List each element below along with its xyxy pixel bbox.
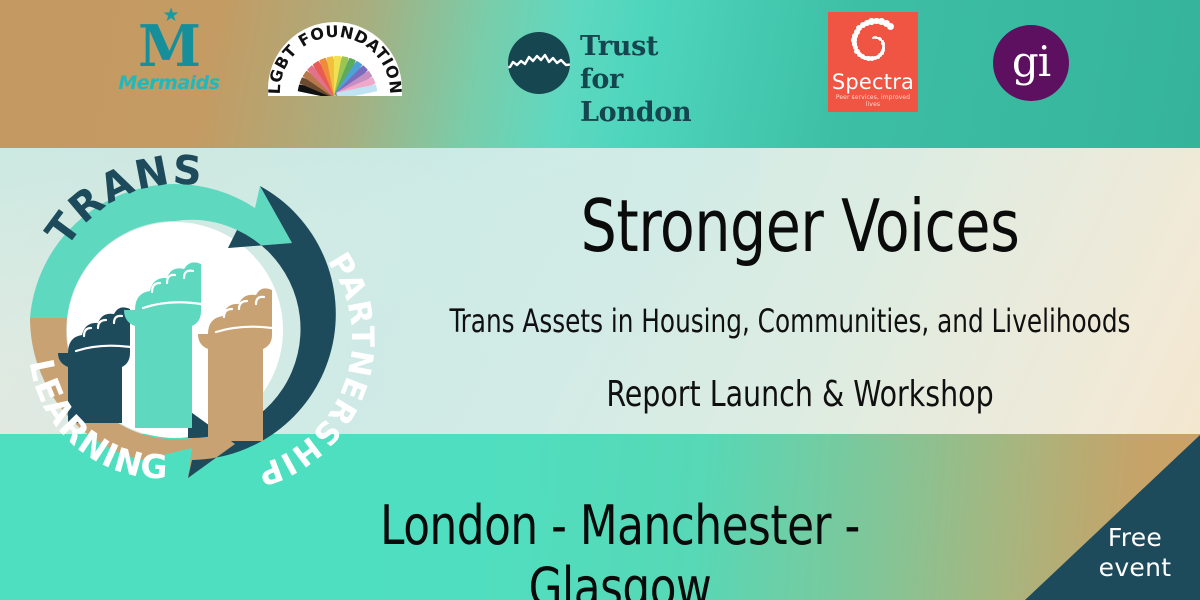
logo-trust-for-london: Trust for London	[508, 28, 724, 98]
spectra-spiral-dot	[887, 23, 894, 30]
logo-mermaids: ★ M Mermaids	[118, 6, 220, 104]
event-cities: London - Manchester - Glasgow	[292, 495, 949, 600]
trust-wordmark-line1: Trust	[580, 30, 724, 63]
event-banner: ★ M Mermaids LGBT FOUNDATION	[0, 0, 1200, 600]
free-event-line1: Free	[1080, 523, 1190, 553]
event-subtitle: Trans Assets in Housing, Communities, an…	[446, 302, 1134, 340]
page-title: Stronger Voices	[466, 185, 1135, 267]
sponsor-logo-row: ★ M Mermaids LGBT FOUNDATION	[0, 0, 1200, 148]
trust-wordmark: Trust for London	[580, 30, 724, 129]
logo-lgbt-foundation: LGBT FOUNDATION	[268, 22, 402, 96]
trust-wordmark-line2: for London	[580, 63, 724, 129]
spectra-wordmark: Spectra	[828, 70, 918, 94]
svg-text:LGBT FOUNDATION: LGBT FOUNDATION	[268, 22, 402, 95]
spectra-tagline: Peer services, improved lives	[828, 94, 918, 108]
free-event-line2: event	[1080, 553, 1190, 583]
free-event-badge: Free event	[1080, 523, 1190, 582]
spectra-spiral-icon	[846, 19, 900, 69]
gi-wordmark: gi	[993, 25, 1069, 101]
event-type: Report Launch & Workshop	[466, 374, 1135, 416]
lgbt-arc-wordmark: LGBT FOUNDATION	[268, 22, 402, 96]
mermaids-wordmark: Mermaids	[118, 72, 220, 94]
mermaids-monogram: M	[118, 18, 220, 76]
logo-gi: gi	[993, 25, 1069, 101]
logo-spectra: Spectra Peer services, improved lives	[828, 12, 918, 112]
trust-circle-icon	[508, 32, 570, 94]
trans-learning-partnership-logo: TRANS LEARNING PARTNERSHIP	[0, 148, 382, 508]
trust-skyline-wave-icon	[508, 52, 570, 78]
